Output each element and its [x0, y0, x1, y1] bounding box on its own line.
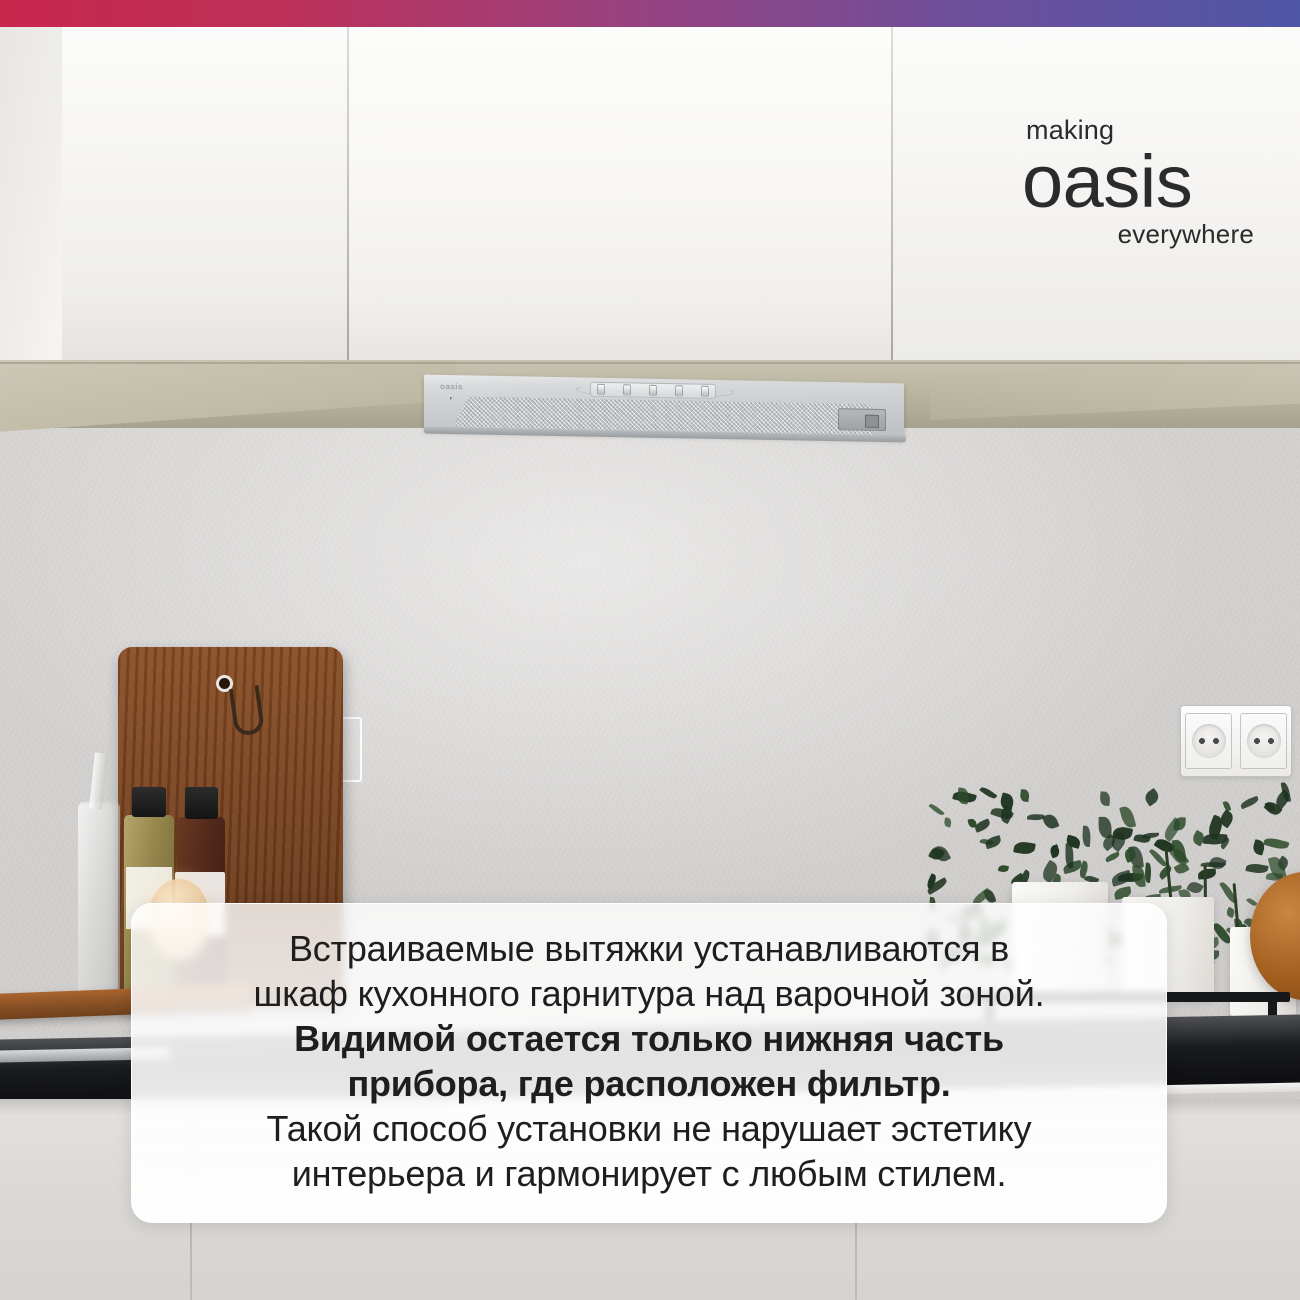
plant-leaf: [1197, 869, 1216, 880]
plant-leaf: [1174, 861, 1190, 876]
plant-leaf: [1082, 825, 1091, 847]
power-socket-right[interactable]: [1240, 713, 1287, 769]
plant-leaf: [1048, 844, 1061, 859]
plant-leaf: [1245, 862, 1269, 875]
hood-button-speed-1[interactable]: [623, 384, 631, 395]
filter-latch[interactable]: [838, 408, 886, 431]
plant-leaf: [1099, 791, 1110, 806]
hood-button-speed-3[interactable]: [675, 385, 683, 396]
plant-leaf: [1020, 789, 1030, 802]
plant-leaf: [1132, 864, 1146, 887]
info-card-line-6: интерьера и гармонирует с любым стилем.: [150, 1151, 1148, 1196]
info-card-line-2: шкаф кухонного гарнитура над варочной зо…: [150, 971, 1148, 1016]
range-hood-control-panel[interactable]: [590, 382, 716, 399]
info-card-line-3: Видимой остается только нижняя часть: [150, 1016, 1148, 1061]
plant-leaf: [956, 787, 969, 804]
cabinet-seam-right: [891, 27, 893, 360]
plant-leaf: [1119, 805, 1136, 829]
plant-leaf: [932, 843, 952, 864]
plant-leaf: [1104, 852, 1120, 863]
info-card-line-1: Встраиваемые вытяжки устанавливаются в: [150, 926, 1148, 971]
plant-leaf: [979, 785, 997, 800]
bottle-cap: [132, 787, 166, 817]
logo-line-oasis: oasis: [1008, 146, 1258, 218]
info-text-card: Встраиваемые вытяжки устанавливаются вшк…: [131, 903, 1167, 1223]
glass-oil-bottle: [78, 802, 120, 997]
hood-button-speed-2[interactable]: [649, 385, 657, 396]
promo-image: making oasis everywhere oasis: [0, 0, 1300, 1300]
power-socket-left[interactable]: [1185, 713, 1232, 769]
upper-cabinet-center: [350, 27, 895, 360]
cabinet-return-panel: [0, 27, 62, 360]
plant-leaf: [1191, 830, 1207, 847]
hood-button-power[interactable]: [701, 386, 709, 397]
plant-leaf: [1145, 863, 1152, 883]
filter-bevel-edge: [450, 397, 496, 429]
plant-leaf: [1143, 789, 1162, 807]
range-hood-brand-label: oasis: [440, 382, 498, 393]
plant-leaf: [1042, 812, 1060, 831]
plant-leaf: [1263, 836, 1289, 851]
plant-leaf: [929, 803, 945, 818]
wall-outlets[interactable]: [1180, 705, 1292, 777]
plant-leaf: [1110, 870, 1133, 887]
plant-leaf: [1013, 840, 1035, 855]
plant-leaf: [997, 864, 1009, 873]
plant-leaf: [943, 817, 951, 827]
hood-button-light[interactable]: [597, 384, 605, 395]
plant-leaf: [1240, 795, 1260, 808]
oasis-logo: making oasis everywhere: [1008, 115, 1258, 250]
info-card-line-5: Такой способ установки не нарушает эстет…: [150, 1106, 1148, 1151]
cabinet-seam-left: [347, 27, 349, 360]
top-gradient-bar: [0, 0, 1300, 27]
soffit-gap-line: [0, 362, 1300, 364]
info-card-line-4: прибора, где расположен фильтр.: [150, 1061, 1148, 1106]
bottle-cap: [185, 787, 218, 819]
plant-leaf: [983, 835, 1001, 849]
